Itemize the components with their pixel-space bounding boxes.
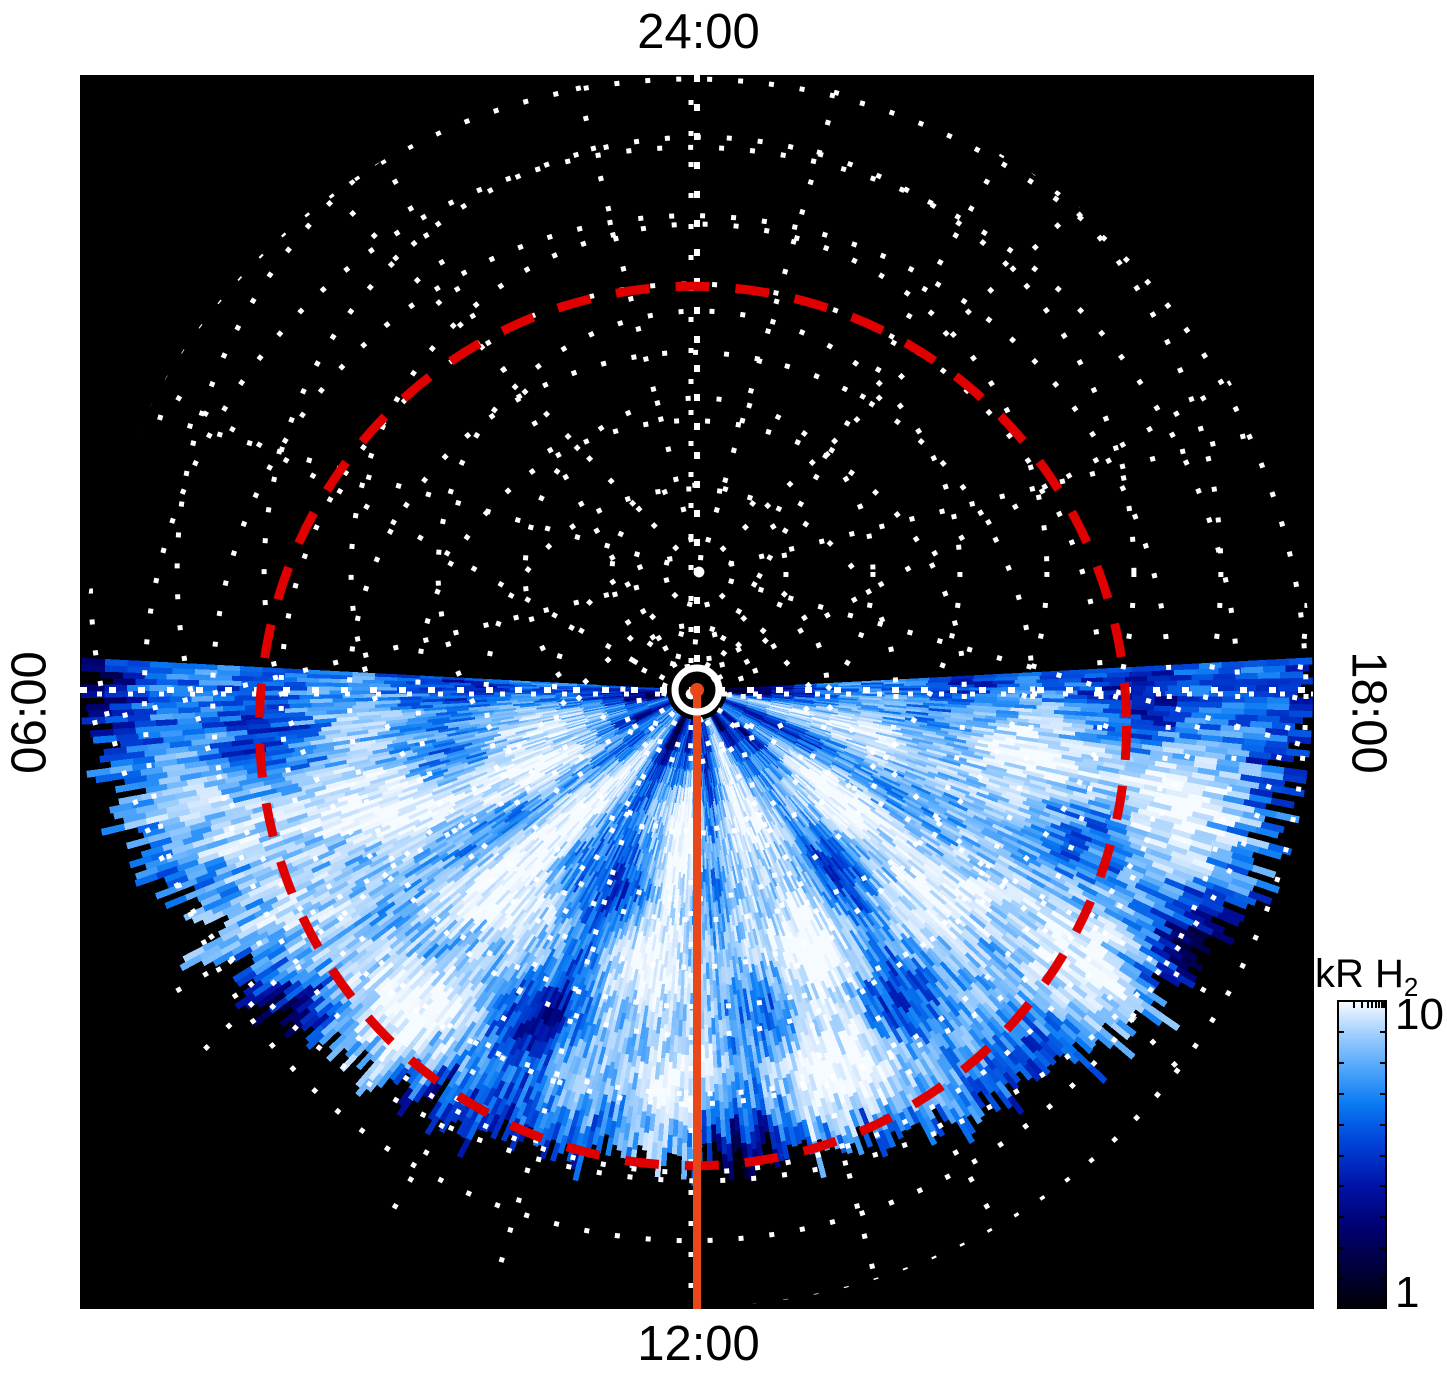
colorbar-minor-tick <box>1375 1000 1377 1008</box>
local-time-label-top: 24:00 <box>0 8 1397 57</box>
local-time-label-right: 18:00 <box>1344 423 1393 1003</box>
local-time-label-left: 06:00 <box>6 423 55 1003</box>
polar-plot-panel <box>80 75 1314 1309</box>
colorbar-side-tick <box>1380 1155 1387 1157</box>
colorbar-side-tick <box>1380 1124 1387 1126</box>
colorbar-side-tick <box>1337 1155 1344 1157</box>
colorbar-side-tick <box>1337 1124 1344 1126</box>
aurora-polar-figure: 24:00 12:00 06:00 18:00 kR H2 10 <box>0 0 1447 1384</box>
colorbar-max-label: 10 <box>1395 990 1444 1040</box>
colorbar-side-tick <box>1337 1247 1344 1249</box>
colorbar-side-tick <box>1380 1185 1387 1187</box>
colorbar-side-tick <box>1337 1093 1344 1095</box>
colorbar-side-tick <box>1380 1247 1387 1249</box>
colorbar-side-tick <box>1380 1062 1387 1064</box>
colorbar-side-tick <box>1380 1093 1387 1095</box>
colorbar: kR H2 10 1 <box>1337 1000 1387 1309</box>
colorbar-side-tick <box>1337 1278 1344 1280</box>
colorbar-side-tick <box>1337 1216 1344 1218</box>
local-time-label-bottom: 12:00 <box>0 1320 1397 1369</box>
colorbar-minor-tick <box>1353 1000 1355 1008</box>
colorbar-side-tick <box>1380 1031 1387 1033</box>
colorbar-side-tick <box>1380 1216 1387 1218</box>
colorbar-side-tick <box>1337 1185 1344 1187</box>
colorbar-title-text: kR H <box>1315 952 1404 996</box>
colorbar-minor-tick <box>1371 1000 1373 1008</box>
aurora-plot-svg <box>80 75 1314 1309</box>
colorbar-minor-tick <box>1361 1000 1363 1008</box>
colorbar-side-tick <box>1337 1031 1344 1033</box>
colorbar-side-tick <box>1380 1278 1387 1280</box>
colorbar-minor-tick <box>1383 1000 1385 1008</box>
colorbar-min-label: 1 <box>1395 1268 1419 1318</box>
colorbar-side-tick <box>1337 1062 1344 1064</box>
colorbar-minor-tick <box>1367 1000 1369 1008</box>
